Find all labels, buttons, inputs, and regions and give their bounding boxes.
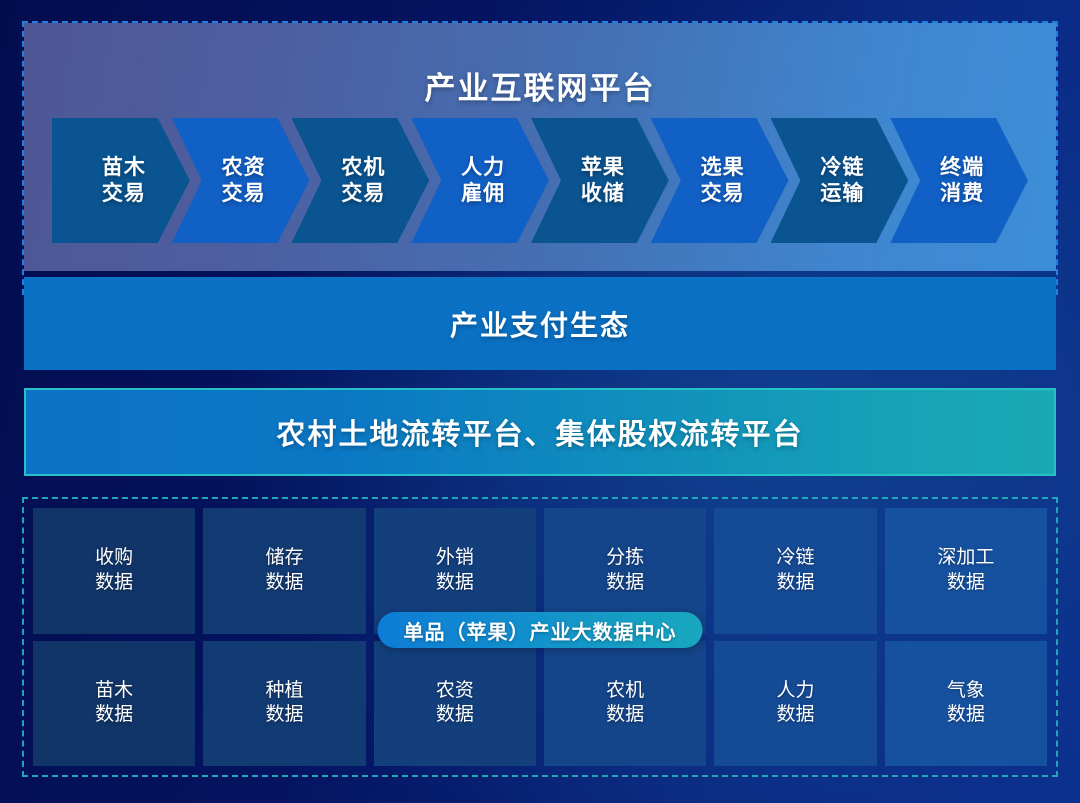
band-land-equity-transfer: 农村土地流转平台、集体股权流转平台 [24, 388, 1056, 476]
band-transfer-title: 农村土地流转平台、集体股权流转平台 [276, 411, 803, 453]
band-payment-ecology: 产业支付生态 [24, 277, 1056, 370]
dashed-frame-top [22, 21, 1058, 295]
data-center-badge: 单品（苹果）产业大数据中心 [378, 612, 703, 648]
diagram-canvas: 产业互联网平台 苗木 交易 农资 交易 农机 交易 人力 雇佣 苹果 收储 选果… [0, 0, 1080, 803]
band-payment-title: 产业支付生态 [450, 304, 630, 344]
data-center-badge-label: 单品（苹果）产业大数据中心 [404, 616, 677, 645]
